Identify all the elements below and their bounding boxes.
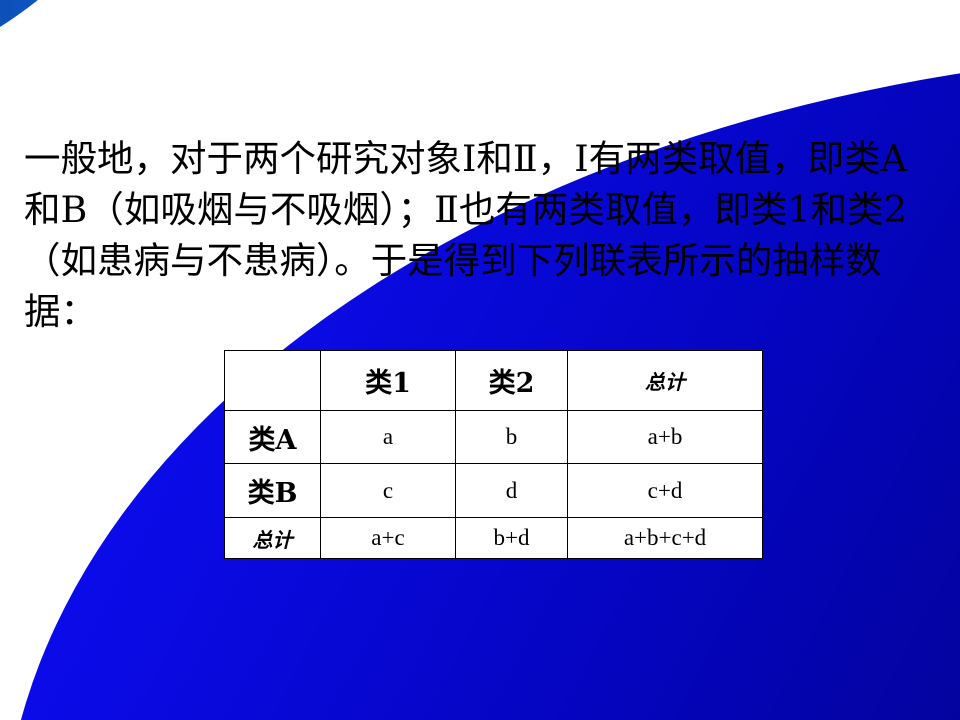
- table-header-row: 类1 类2 总计: [225, 351, 763, 411]
- blue-swoosh-top-left-icon: [0, 0, 250, 96]
- column-header-total: 总计: [568, 351, 763, 411]
- table-row: 总计 a+c b+d a+b+c+d: [225, 518, 763, 559]
- row-header-classB: 类B: [225, 464, 321, 518]
- row-header-total: 总计: [225, 518, 321, 559]
- cell-a-plus-b: a+b: [568, 411, 763, 464]
- contingency-table: 类1 类2 总计 类A a b a+b 类B c d c+d 总计: [224, 350, 763, 559]
- cell-grand-total: a+b+c+d: [568, 518, 763, 559]
- cell-a-plus-c: a+c: [321, 518, 456, 559]
- slide-canvas: 一般地，对于两个研究对象Ⅰ和Ⅱ，Ⅰ有两类取值，即类A和B（如吸烟与不吸烟）；Ⅱ也…: [0, 0, 960, 720]
- slide-body-paragraph: 一般地，对于两个研究对象Ⅰ和Ⅱ，Ⅰ有两类取值，即类A和B（如吸烟与不吸烟）；Ⅱ也…: [24, 133, 940, 337]
- table-row: 类A a b a+b: [225, 411, 763, 464]
- column-header-class2: 类2: [456, 351, 568, 411]
- contingency-table-wrapper: 类1 类2 总计 类A a b a+b 类B c d c+d 总计: [224, 350, 763, 559]
- row-header-classA: 类A: [225, 411, 321, 464]
- cell-a: a: [321, 411, 456, 464]
- cell-d: d: [456, 464, 568, 518]
- top-right-white-mask: [955, 0, 960, 70]
- cell-c: c: [321, 464, 456, 518]
- table-corner-cell: [225, 351, 321, 411]
- cell-b-plus-d: b+d: [456, 518, 568, 559]
- column-header-class1: 类1: [321, 351, 456, 411]
- table-row: 类B c d c+d: [225, 464, 763, 518]
- cell-c-plus-d: c+d: [568, 464, 763, 518]
- cell-b: b: [456, 411, 568, 464]
